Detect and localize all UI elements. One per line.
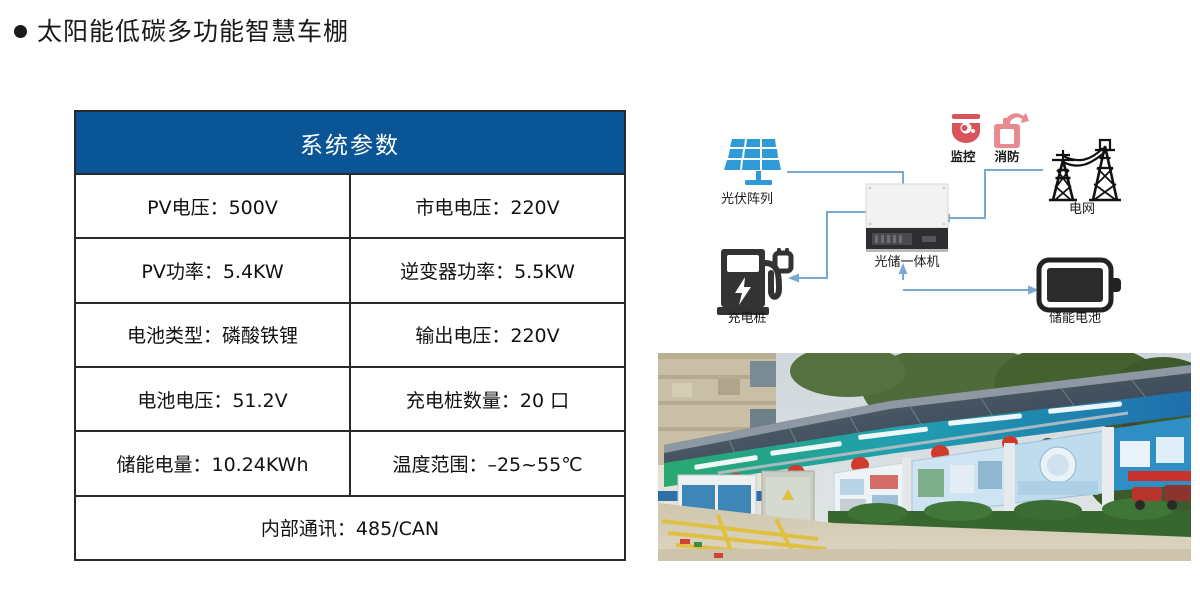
table-cell: PV功率：5.4KW <box>76 239 351 301</box>
diagram-label-inverter: 光储一体机 <box>874 255 939 270</box>
diagram-label-charger: 充电桩 <box>727 310 766 326</box>
table-row: PV功率：5.4KW 逆变器功率：5.5KW <box>76 239 624 303</box>
table-cell: 输出电压：220V <box>351 304 624 366</box>
table-row: 电池类型：磷酸铁锂 输出电压：220V <box>76 304 624 368</box>
dome-camera-icon <box>952 114 980 143</box>
table-cell: 充电桩数量：20 口 <box>351 368 624 430</box>
spec-table-header-label: 系统参数 <box>300 126 400 160</box>
storage-battery-icon <box>1039 260 1121 310</box>
diagram-label-grid: 电网 <box>1069 202 1095 217</box>
diagram-label-battery: 储能电池 <box>1049 311 1101 326</box>
arrow-grid-to-inverter <box>939 170 1043 223</box>
table-cell: 温度范围：–25~55℃ <box>351 432 624 494</box>
table-cell: 电池类型：磷酸铁锂 <box>76 304 351 366</box>
table-cell: 市电电压：220V <box>351 175 624 237</box>
table-row: 储能电量：10.24KWh 温度范围：–25~55℃ <box>76 432 624 496</box>
diagram-label-fire: 消防 <box>994 149 1020 164</box>
table-cell: 逆变器功率：5.5KW <box>351 239 624 301</box>
spec-table: 系统参数 PV电压：500V 市电电压：220V PV功率：5.4KW 逆变器功… <box>74 110 626 561</box>
diagram-label-pv: 光伏阵列 <box>721 192 773 207</box>
arrow-inverter-to-charger <box>788 212 867 283</box>
table-row: 电池电压：51.2V 充电桩数量：20 口 <box>76 368 624 432</box>
table-row-merged: 内部通讯：485/CAN <box>76 497 624 559</box>
fire-extinguisher-icon <box>994 113 1029 148</box>
table-cell: 内部通讯：485/CAN <box>76 497 624 559</box>
system-diagram: 光伏阵列 监控 消 <box>655 100 1195 335</box>
solar-carport-photo <box>658 353 1191 561</box>
power-tower-icon <box>1049 140 1121 200</box>
table-cell: 储能电量：10.24KWh <box>76 432 351 494</box>
bullet-dot-icon <box>14 25 27 38</box>
table-row: PV电压：500V 市电电压：220V <box>76 175 624 239</box>
inverter-unit-icon <box>866 184 948 252</box>
diagram-label-monitor: 监控 <box>950 149 976 164</box>
spec-table-header: 系统参数 <box>76 112 624 175</box>
table-cell: 电池电压：51.2V <box>76 368 351 430</box>
page-title: 太阳能低碳多功能智慧车棚 <box>14 12 349 48</box>
page-title-text: 太阳能低碳多功能智慧车棚 <box>37 12 349 48</box>
table-cell: PV电压：500V <box>76 175 351 237</box>
solar-panel-icon <box>723 138 787 185</box>
slide-page: 太阳能低碳多功能智慧车棚 系统参数 PV电压：500V 市电电压：220V PV… <box>0 0 1200 605</box>
charging-pile-icon <box>717 248 791 315</box>
